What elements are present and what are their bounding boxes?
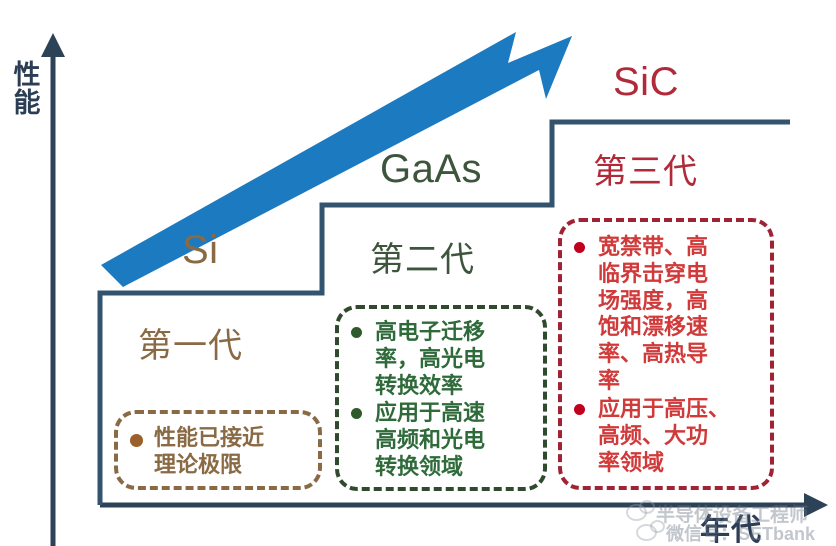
feature-text-line: 转换效率 xyxy=(375,373,537,400)
feature-item: 高电子迁移率，高光电转换效率 xyxy=(349,319,537,399)
feature-list-gaas: 高电子迁移率，高光电转换效率应用于高速高频和光电转换领域 xyxy=(339,309,543,481)
bullet-icon xyxy=(351,327,362,338)
feature-item: 宽禁带、高临界击穿电场强度，高饱和漂移速率、高热导率 xyxy=(572,234,764,395)
bullet-icon xyxy=(130,434,143,447)
feature-text-line: 应用于高压、 xyxy=(598,396,764,423)
feature-item: 性能已接近理论极限 xyxy=(128,425,312,479)
feature-text-line: 率领域 xyxy=(598,450,764,477)
feature-box-gaas: 高电子迁移率，高光电转换效率应用于高速高频和光电转换领域 xyxy=(335,305,547,491)
feature-text-line: 率、高热导 xyxy=(598,341,764,368)
feature-text-line: 场强度，高 xyxy=(598,288,764,315)
y-axis xyxy=(41,33,65,546)
feature-list-si: 性能已接近理论极限 xyxy=(118,414,318,479)
feature-text-line: 高电子迁移 xyxy=(375,319,537,346)
generation-label-si: 第一代 xyxy=(138,318,243,367)
x-axis-label: 年代 xyxy=(700,505,762,546)
bullet-icon xyxy=(574,404,585,415)
feature-text-line: 性能已接近 xyxy=(154,425,312,452)
feature-text-line: 临界击穿电 xyxy=(598,261,764,288)
feature-list-sic: 宽禁带、高临界击穿电场强度，高饱和漂移速率、高热导率应用于高压、高频、大功率领域 xyxy=(562,222,770,476)
bullet-icon xyxy=(351,408,362,419)
feature-box-si: 性能已接近理论极限 xyxy=(114,410,322,490)
material-label-gaas: GaAs xyxy=(380,147,482,192)
feature-text-line: 宽禁带、高 xyxy=(598,234,764,261)
generation-label-sic: 第三代 xyxy=(593,144,698,193)
feature-text-line: 率 xyxy=(598,368,764,395)
bullet-icon xyxy=(574,242,585,253)
performance-trend-arrow xyxy=(101,32,572,287)
feature-text-line: 高频和光电 xyxy=(375,427,537,454)
feature-text-line: 高频、大功 xyxy=(598,423,764,450)
y-axis-label: 性能 xyxy=(10,62,44,117)
feature-item: 应用于高速高频和光电转换领域 xyxy=(349,400,537,480)
feature-text-line: 率，高光电 xyxy=(375,346,537,373)
generation-label-gaas: 第二代 xyxy=(370,232,475,281)
feature-text-line: 转换领域 xyxy=(375,454,537,481)
semiconductor-generations-diagram: 性能 年代 Si 第一代 GaAs 第二代 SiC 第三代 性能已接近理论极限 … xyxy=(0,0,836,546)
feature-item: 应用于高压、高频、大功率领域 xyxy=(572,396,764,476)
material-label-sic: SiC xyxy=(613,60,679,105)
feature-text-line: 理论极限 xyxy=(154,452,312,479)
feature-text-line: 饱和漂移速 xyxy=(598,314,764,341)
material-label-si: Si xyxy=(182,228,219,273)
feature-text-line: 应用于高速 xyxy=(375,400,537,427)
feature-box-sic: 宽禁带、高临界击穿电场强度，高饱和漂移速率、高热导率应用于高压、高频、大功率领域 xyxy=(558,218,774,490)
